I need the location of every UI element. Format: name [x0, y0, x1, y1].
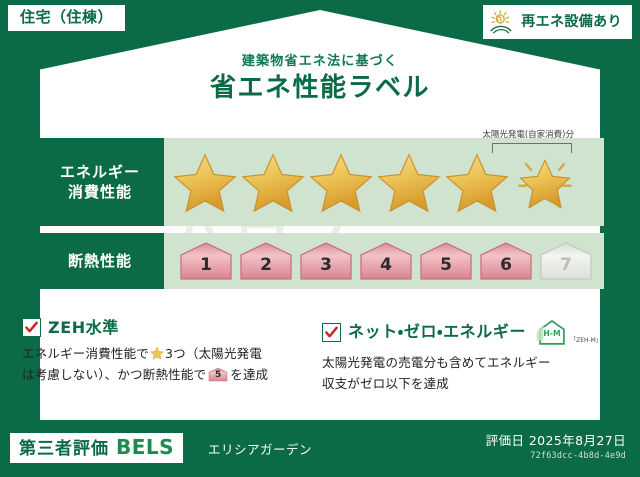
grade-number: 4 — [358, 241, 414, 281]
star-icon-3 — [308, 150, 374, 214]
sun-icon — [489, 9, 515, 35]
criterion-zeh-text-b: は考慮しない）、かつ断熱性能で — [22, 367, 206, 382]
evaluation-date: 評価日 2025年8月27日 — [486, 433, 626, 448]
checkbox-checked-icon — [22, 318, 41, 337]
check-mark-icon — [324, 325, 339, 340]
inline-star-icon — [150, 346, 164, 360]
star-icon-4 — [376, 150, 442, 214]
solar-bracket — [492, 143, 572, 153]
energy-performance-label: 住宅（住棟） 再エネ設備あり 建築物省エネ法に基づく 省エネ性能ラベル ハウス — [0, 0, 640, 477]
zeh-m-logo: H-M 「ZEH-M」 — [535, 318, 602, 346]
evaluation-id: 72f63dcc-4b8d-4e9d — [486, 451, 626, 461]
zeh-m-logo-text: H-M — [544, 329, 561, 338]
label-title: 省エネ性能ラベル — [0, 74, 640, 103]
energy-performance-label-cell: エネルギー 消費性能 — [36, 138, 164, 226]
criterion-net-zero: ネット・ゼロ・エネルギー H-M 「ZEH-M」 太陽光発電の売電分も含めてエネ… — [322, 318, 622, 394]
checkbox-checked-icon — [322, 323, 341, 342]
insulation-grade-1: 1 — [178, 241, 234, 281]
energy-performance-row: エネルギー 消費性能 — [36, 138, 604, 226]
energy-label-line2: 消費性能 — [68, 182, 132, 202]
evaluation-date-value: 2025年8月27日 — [529, 433, 626, 448]
star-icon-5 — [444, 150, 510, 214]
solar-star-wrapper: 太陽光発電(自家消費)分 — [512, 150, 578, 214]
renewable-equipment-label: 再エネ設備あり — [521, 15, 622, 29]
energy-stars-body: 太陽光発電(自家消費)分 — [164, 138, 604, 226]
renewable-equipment-badge: 再エネ設備あり — [483, 5, 632, 39]
criterion-net-zero-title: ネット・ゼロ・エネルギー — [348, 324, 526, 340]
zeh-m-logo-caption: 「ZEH-M」 — [570, 338, 602, 346]
star-icon-2 — [240, 150, 306, 214]
criterion-net-zero-text-b: 収支がゼロ以下を達成 — [322, 376, 449, 391]
criteria-section: ZEH水準 エネルギー消費性能で3つ（太陽光発電 は考慮しない）、かつ断熱性能で… — [22, 318, 622, 394]
criterion-zeh-title: ZEH水準 — [48, 320, 119, 336]
energy-label-line1: エネルギー — [60, 162, 140, 182]
grade-number: 2 — [238, 241, 294, 281]
metrics-section: エネルギー 消費性能 — [36, 138, 604, 296]
insulation-grades-body: 1 2 3 — [164, 233, 604, 289]
zeh-m-house-icon: H-M — [535, 318, 569, 346]
inline-grade-badge: 5 — [208, 367, 228, 382]
criterion-zeh-star-count: 3つ（太陽光発電 — [165, 346, 262, 361]
solar-caption: 太陽光発電(自家消費)分 — [482, 131, 574, 140]
star-icon-1 — [172, 150, 238, 214]
evaluation-date-label: 評価日 — [486, 433, 525, 448]
insulation-performance-label-cell: 断熱性能 — [36, 233, 164, 289]
grade-number: 1 — [178, 241, 234, 281]
insulation-grade-4: 4 — [358, 241, 414, 281]
criterion-zeh-header: ZEH水準 — [22, 318, 310, 337]
criterion-zeh-body: エネルギー消費性能で3つ（太陽光発電 は考慮しない）、かつ断熱性能で5を達成 — [22, 344, 310, 385]
bels-badge: 第三者評価 BELS — [10, 433, 183, 463]
criterion-net-zero-text-a: 太陽光発電の売電分も含めてエネルギー — [322, 355, 551, 370]
criterion-net-zero-header: ネット・ゼロ・エネルギー H-M 「ZEH-M」 — [322, 318, 610, 346]
third-party-label: 第三者評価 — [19, 441, 109, 458]
grade-number: 7 — [538, 241, 594, 281]
building-type-badge: 住宅（住棟） — [8, 5, 125, 31]
insulation-grade-3: 3 — [298, 241, 354, 281]
criterion-zeh-text-c: を達成 — [230, 367, 268, 382]
insulation-performance-row: 断熱性能 — [36, 233, 604, 289]
grade-number: 6 — [478, 241, 534, 281]
grade-number: 3 — [298, 241, 354, 281]
label-footer: 第三者評価 BELS エリシアガーデン 評価日 2025年8月27日 72f63… — [0, 425, 640, 477]
insulation-grade-5: 5 — [418, 241, 474, 281]
criterion-net-zero-body: 太陽光発電の売電分も含めてエネルギー 収支がゼロ以下を達成 — [322, 353, 610, 394]
insulation-label: 断熱性能 — [68, 251, 132, 271]
insulation-grade-scale: 1 2 3 — [164, 233, 604, 289]
insulation-grade-6: 6 — [478, 241, 534, 281]
bels-mark-label: BELS — [116, 437, 174, 457]
inline-grade-value: 5 — [208, 367, 228, 382]
insulation-grade-2: 2 — [238, 241, 294, 281]
criterion-zeh-text-a: エネルギー消費性能で — [22, 346, 149, 361]
label-subtitle: 建築物省エネ法に基づく — [0, 55, 640, 68]
star-rating: 太陽光発電(自家消費)分 — [164, 138, 604, 226]
evaluation-info: 評価日 2025年8月27日 72f63dcc-4b8d-4e9d — [486, 433, 626, 461]
insulation-grade-7: 7 — [538, 241, 594, 281]
criterion-zeh: ZEH水準 エネルギー消費性能で3つ（太陽光発電 は考慮しない）、かつ断熱性能で… — [22, 318, 322, 394]
building-type-label: 住宅（住棟） — [20, 10, 113, 25]
star-icon-6-solar — [512, 150, 578, 214]
check-mark-icon — [24, 320, 39, 335]
grade-number: 5 — [418, 241, 474, 281]
label-heading: 建築物省エネ法に基づく 省エネ性能ラベル — [0, 55, 640, 103]
project-name: エリシアガーデン — [208, 444, 312, 457]
